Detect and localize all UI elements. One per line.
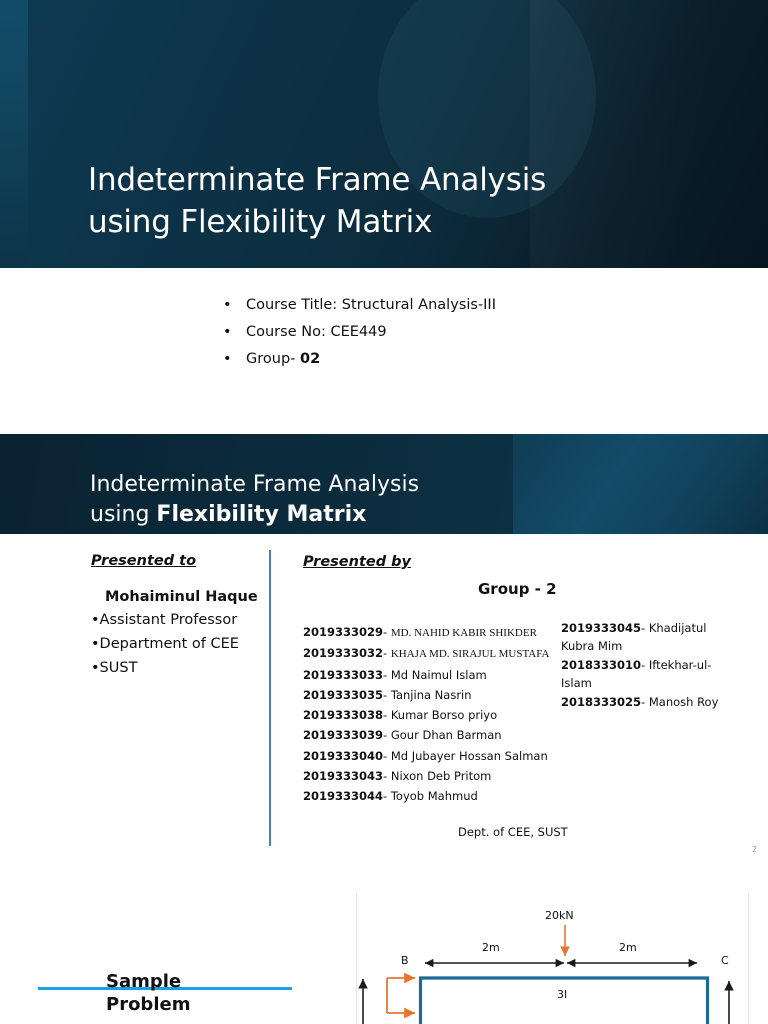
slide1-title-line1: Indeterminate Frame Analysis [88,162,546,198]
group-number: 02 [300,351,320,367]
member-id: 2018333010 [561,658,641,672]
member-name: Tanjina Nasrin [391,688,472,702]
member-name: Manosh Roy [649,695,719,709]
node-label-b: B [401,954,409,967]
member-separator: - [383,625,391,639]
member-separator: - [383,728,391,742]
slide2-title-line1: Indeterminate Frame Analysis [90,472,419,497]
node-label-c: C [721,954,729,967]
presenter-name: Mohaiminul Haque [91,587,271,608]
member-separator: - [641,658,649,672]
list-item-label: Course Title: Structural Analysis-III [246,297,496,313]
slide1-title-line2: using Flexibility Matrix [88,204,432,240]
bullet-icon: • [223,292,232,319]
list-item: • Course No: CEE449 [218,319,678,346]
list-item-label: Course No: CEE449 [246,324,387,340]
member-name: KHAJA MD. SIRAJUL MUSTAFA [391,648,550,660]
presented-by-heading: Presented by [303,554,753,570]
member-name: Md Naimul Islam [391,668,487,682]
member-separator: - [383,668,391,682]
member-id: 2019333032 [303,646,383,660]
member-id: 2019333033 [303,668,383,682]
member-name: Nixon Deb Pritom [391,769,492,783]
department-footer: Dept. of CEE, SUST [458,825,568,839]
sample-problem-title: Sample Problem [106,970,296,1016]
presenter-detail: •Assistant Professor [91,608,271,632]
member-name: Md Jubayer Hossan Salman [391,749,548,763]
slide-title: Indeterminate Frame Analysis using Flexi… [0,0,768,432]
page-title: Indeterminate Frame Analysis using Flexi… [88,159,688,243]
presenter-detail: •SUST [91,656,271,680]
beam-stiffness-label: 3I [557,988,567,1001]
list-item: 2019333032- KHAJA MD. SIRAJUL MUSTAFA [303,643,573,664]
member-name: MD. NAHID KABIR SHIKDER [391,627,537,639]
member-separator: - [383,708,391,722]
list-item: • Group- 02 [218,346,678,373]
bullet-icon: • [223,346,232,373]
course-info-list: • Course Title: Structural Analysis-III … [218,292,678,373]
member-name: Gour Dhan Barman [391,728,502,742]
list-item: 2019333039- Gour Dhan Barman [303,725,573,745]
member-separator: - [383,789,391,803]
presented-to-column: Presented to Mohaiminul Haque •Assistant… [91,553,271,680]
slide2-title: Indeterminate Frame Analysis using Flexi… [90,470,520,530]
member-id: 2018333025 [561,695,641,709]
member-id: 2019333039 [303,728,383,742]
member-id: 2019333035 [303,688,383,702]
load-label: 20kN [545,909,574,922]
member-separator: - [383,749,391,763]
presented-to-heading: Presented to [91,553,271,569]
dimension-label-right: 2m [619,941,637,954]
member-id: 2019333045 [561,621,641,635]
frame-diagram-figure: 20kN 2m 2m B C 3I [357,893,748,1024]
sample-title-line2: Problem [106,994,190,1015]
list-item: 2019333044- Toyob Mahmud [303,786,573,806]
member-separator: - [383,769,391,783]
sample-title-line1: Sample [106,971,181,992]
member-name: Toyob Mahmud [391,789,478,803]
list-item: 2018333025- Manosh Roy [561,694,741,712]
list-item: 2019333043- Nixon Deb Pritom [303,766,573,786]
dimension-label-left: 2m [482,941,500,954]
member-id: 2019333029 [303,625,383,639]
member-list-secondary: 2019333045- Khadijatul Kubra Mim20183330… [561,620,741,714]
page-number: 2 [752,845,757,854]
member-id: 2019333040 [303,749,383,763]
list-item: 2019333035- Tanjina Nasrin [303,685,573,705]
member-list-primary: 2019333029- MD. NAHID KABIR SHIKDER20193… [303,622,573,807]
list-item: 2018333010- Iftekhar-ul-Islam [561,657,741,692]
member-id: 2019333043 [303,769,383,783]
member-separator: - [383,646,391,660]
member-id: 2019333038 [303,708,383,722]
member-name: Kumar Borso priyo [391,708,497,722]
list-item: 2019333033- Md Naimul Islam [303,665,573,685]
slide2-title-line2-prefix: using [90,502,156,527]
list-item: 2019333045- Khadijatul Kubra Mim [561,620,741,655]
member-separator: - [383,688,391,702]
list-item: 2019333040- Md Jubayer Hossan Salman [303,746,573,766]
list-item: 2019333038- Kumar Borso priyo [303,705,573,725]
member-id: 2019333044 [303,789,383,803]
group-label: Group - 2 [478,580,557,598]
member-separator: - [641,621,649,635]
slide2-title-line2-bold: Flexibility Matrix [156,502,366,527]
list-item: 2019333029- MD. NAHID KABIR SHIKDER [303,622,573,643]
hero-right-pane [513,434,768,534]
list-item-label: Group- [246,351,300,367]
list-item: • Course Title: Structural Analysis-III [218,292,678,319]
presenter-detail: •Department of CEE [91,632,271,656]
member-separator: - [641,695,649,709]
hero-left-accent-strip [0,0,28,268]
bullet-icon: • [223,319,232,346]
